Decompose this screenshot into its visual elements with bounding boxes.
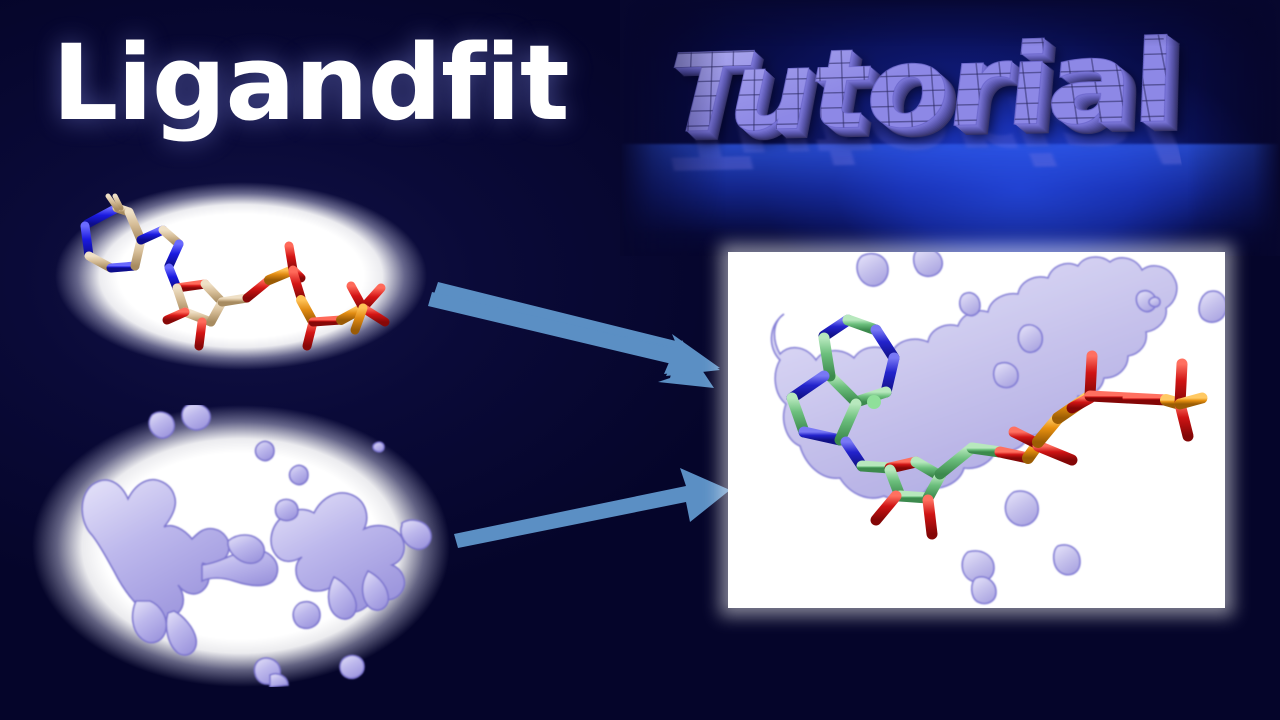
slide-canvas: Tutorial Tutorial Tutorial Ligandfit [0,0,1280,720]
arrow-density-to-result [442,452,732,562]
page-title: Ligandfit [52,22,569,144]
tutorial-3d-text: Tutorial [664,16,1186,158]
arrow-ligand-to-result [420,278,730,388]
ligand-oval-vignette [55,182,427,370]
density-oval-vignette [32,405,450,687]
fitted-ligand-in-density-panel [728,252,1225,608]
tutorial-artwork: Tutorial Tutorial Tutorial [620,0,1280,256]
